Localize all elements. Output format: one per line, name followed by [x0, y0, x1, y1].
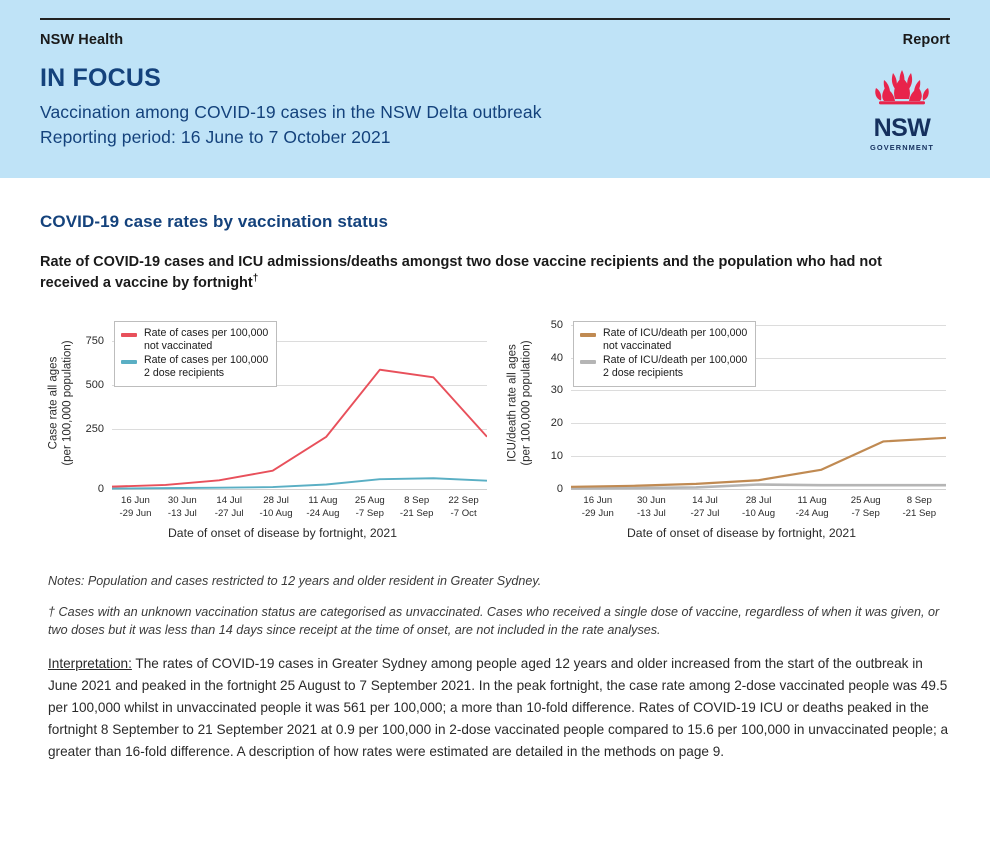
page-header: NSW Health Report IN FOCUS Vaccination a…: [0, 0, 990, 178]
case-rate-y-axis-title: Case rate all ages(per 100,000 populatio…: [44, 315, 78, 490]
eyebrow-in-focus: IN FOCUS: [40, 64, 950, 93]
page-title: Vaccination among COVID-19 cases in the …: [40, 100, 950, 125]
case-rate-plot-wrap: 750 500 250 0: [78, 319, 487, 494]
case-rate-chart: Case rate all ages(per 100,000 populatio…: [40, 315, 491, 550]
x-tick: 8 Sep -21 Sep: [892, 495, 946, 519]
x-tick: 22 Sep -7 Oct: [440, 495, 487, 519]
x-tick: 28 Jul -10 Aug: [253, 495, 300, 519]
section-subheading: Rate of COVID-19 cases and ICU admission…: [40, 252, 920, 293]
icu-death-x-axis-title: Date of onset of disease by fortnight, 2…: [537, 526, 946, 540]
nsw-government-logo: NSW GOVERNMENT: [854, 68, 950, 152]
y-tick: 500: [86, 379, 104, 391]
legend-label: Rate of ICU/death per 100,000 2 dose rec…: [603, 354, 747, 380]
section-heading: COVID-19 case rates by vaccination statu…: [40, 212, 950, 232]
y-axis-title-line2: (per 100,000 population): [62, 340, 74, 465]
y-tick: 750: [86, 335, 104, 347]
x-tick: 30 Jun -13 Jul: [159, 495, 206, 519]
y-axis-title-line2: (per 100,000 population): [521, 340, 533, 465]
y-tick: 40: [551, 352, 563, 364]
y-tick: 0: [98, 483, 104, 495]
x-tick: 28 Jul -10 Aug: [732, 495, 786, 519]
y-tick: 250: [86, 423, 104, 435]
x-tick: 25 Aug -7 Sep: [346, 495, 393, 519]
note-dagger: † Cases with an unknown vaccination stat…: [48, 603, 950, 640]
nsw-government-wordmark: GOVERNMENT: [854, 143, 950, 152]
y-tick: 30: [551, 384, 563, 396]
dagger-marker: †: [253, 273, 259, 284]
icu-death-y-axis-title: ICU/death rate all ages(per 100,000 popu…: [503, 315, 537, 490]
x-tick: 25 Aug -7 Sep: [839, 495, 893, 519]
x-tick: 16 Jun -29 Jun: [112, 495, 159, 519]
y-axis-title-line1: ICU/death rate all ages: [507, 344, 519, 462]
reporting-period: Reporting period: 16 June to 7 October 2…: [40, 125, 950, 150]
y-tick: 20: [551, 417, 563, 429]
interpretation-body: The rates of COVID-19 cases in Greater S…: [48, 656, 948, 759]
header-topline: NSW Health Report: [40, 2, 950, 48]
interpretation-paragraph: Interpretation: The rates of COVID-19 ca…: [40, 653, 950, 763]
icu-death-y-ticks: 50 40 30 20 10 0: [537, 319, 567, 494]
organisation-name: NSW Health: [40, 32, 123, 48]
case-rate-y-ticks: 750 500 250 0: [78, 319, 108, 494]
case-rate-x-ticks: 16 Jun -29 Jun 30 Jun -13 Jul 14 Jul -27…: [112, 495, 487, 519]
legend-swatch-unvaccinated: [580, 333, 596, 337]
legend-swatch-2dose: [580, 360, 596, 364]
waratah-flower-icon: [859, 68, 945, 110]
page-content: COVID-19 case rates by vaccination statu…: [0, 178, 990, 763]
note-population: Notes: Population and cases restricted t…: [48, 572, 950, 590]
icu-death-x-ticks: 16 Jun -29 Jun 30 Jun -13 Jul 14 Jul -27…: [571, 495, 946, 519]
legend-label: Rate of cases per 100,000 2 dose recipie…: [144, 354, 268, 380]
series-line-unvaccinated: [112, 370, 487, 487]
legend-item: Rate of ICU/death per 100,000 2 dose rec…: [580, 354, 747, 380]
case-rate-legend: Rate of cases per 100,000 not vaccinated…: [114, 321, 277, 387]
y-tick: 50: [551, 319, 563, 331]
legend-label: Rate of cases per 100,000 not vaccinated: [144, 327, 268, 353]
x-tick: 30 Jun -13 Jul: [625, 495, 679, 519]
x-tick: 11 Aug -24 Aug: [785, 495, 839, 519]
x-tick: 8 Sep -21 Sep: [393, 495, 440, 519]
y-tick: 10: [551, 450, 563, 462]
legend-label: Rate of ICU/death per 100,000 not vaccin…: [603, 327, 747, 353]
y-axis-title-line1: Case rate all ages: [48, 357, 60, 450]
legend-swatch-2dose: [121, 360, 137, 364]
case-rate-x-axis-title: Date of onset of disease by fortnight, 2…: [78, 526, 487, 540]
legend-swatch-unvaccinated: [121, 333, 137, 337]
interpretation-label: Interpretation:: [48, 656, 132, 671]
x-tick: 14 Jul -27 Jul: [678, 495, 732, 519]
series-line-unvaccinated: [571, 438, 946, 487]
document-type-label: Report: [903, 32, 950, 48]
x-tick: 16 Jun -29 Jun: [571, 495, 625, 519]
header-main: IN FOCUS Vaccination among COVID-19 case…: [40, 48, 950, 150]
y-tick: 0: [557, 483, 563, 495]
nsw-wordmark: NSW: [854, 116, 950, 141]
legend-item: Rate of cases per 100,000 not vaccinated: [121, 327, 268, 353]
section-subheading-text: Rate of COVID-19 cases and ICU admission…: [40, 254, 882, 291]
icu-death-plot-wrap: 50 40 30 20 10 0: [537, 319, 946, 494]
legend-item: Rate of cases per 100,000 2 dose recipie…: [121, 354, 268, 380]
legend-item: Rate of ICU/death per 100,000 not vaccin…: [580, 327, 747, 353]
x-tick: 14 Jul -27 Jul: [206, 495, 253, 519]
series-line-2dose: [112, 479, 487, 489]
chart-notes: Notes: Population and cases restricted t…: [40, 572, 950, 639]
charts-row: Case rate all ages(per 100,000 populatio…: [40, 315, 950, 550]
icu-death-legend: Rate of ICU/death per 100,000 not vaccin…: [573, 321, 756, 387]
header-top-rule: [40, 18, 950, 20]
icu-death-rate-chart: ICU/death rate all ages(per 100,000 popu…: [499, 315, 950, 550]
x-tick: 11 Aug -24 Aug: [300, 495, 347, 519]
